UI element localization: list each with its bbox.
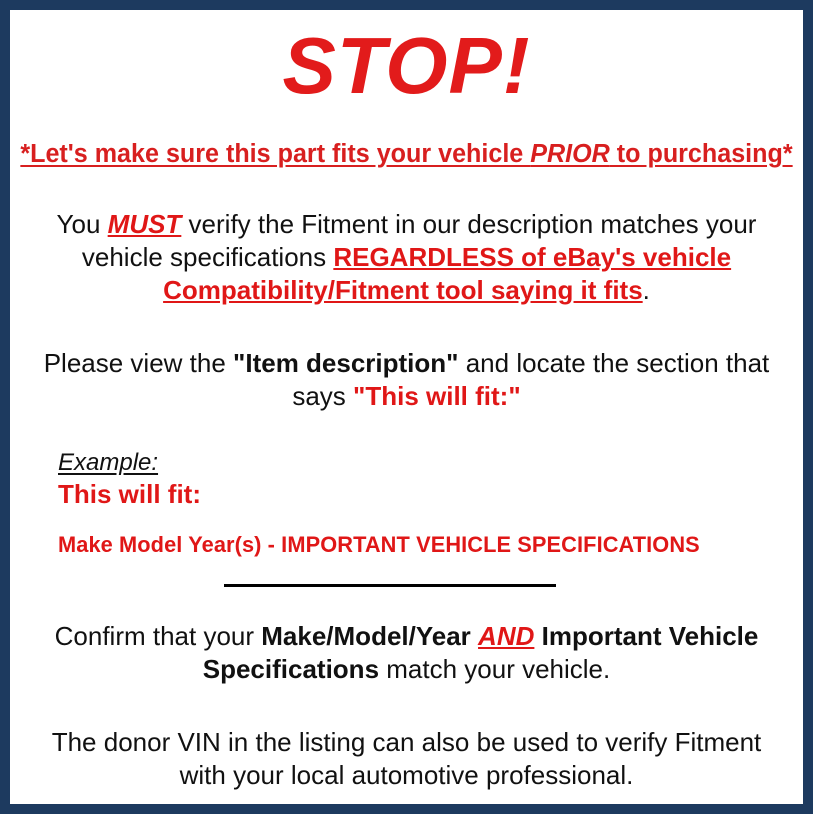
fitment-notice-frame: STOP! *Let's make sure this part fits yo… — [0, 0, 813, 814]
fitment-notice-body: STOP! *Let's make sure this part fits yo… — [10, 10, 803, 804]
confirm-paragraph: Confirm that your Make/Model/Year AND Im… — [10, 620, 803, 686]
must-paragraph-seg1: You — [57, 209, 108, 239]
item-description-emphasis: "Item description" — [233, 348, 458, 378]
make-model-year-emphasis: Make/Model/Year — [261, 621, 471, 651]
stop-heading: STOP! — [10, 26, 803, 106]
example-label: Example: — [58, 449, 158, 477]
confirm-paragraph-seg1: Confirm that your — [55, 621, 262, 651]
divider-wrap — [10, 584, 803, 588]
must-verify-paragraph: You MUST verify the Fitment in our descr… — [10, 208, 803, 307]
example-fit-heading: This will fit: — [58, 479, 803, 510]
this-will-fit-emphasis: "This will fit:" — [353, 381, 521, 411]
example-spec-line: Make Model Year(s) - IMPORTANT VEHICLE S… — [58, 532, 796, 558]
tagline-text-before: *Let's make sure this part fits your veh… — [20, 140, 530, 168]
donor-vin-paragraph: The donor VIN in the listing can also be… — [10, 726, 803, 792]
view-paragraph-seg1: Please view the — [44, 348, 233, 378]
fitment-tagline: *Let's make sure this part fits your veh… — [16, 140, 797, 168]
item-description-paragraph: Please view the "Item description" and l… — [10, 347, 803, 413]
section-divider — [224, 584, 556, 587]
must-paragraph-seg3: . — [643, 275, 650, 305]
example-label-row: Example: — [58, 449, 803, 477]
tagline-emphasis-prior: PRIOR — [530, 140, 610, 168]
must-emphasis: MUST — [108, 209, 182, 239]
example-block: Example: This will fit: Make Model Year(… — [10, 449, 803, 558]
confirm-paragraph-seg2: match your vehicle. — [379, 654, 610, 684]
tagline-text-after: to purchasing* — [610, 140, 793, 168]
and-emphasis: AND — [478, 621, 534, 651]
